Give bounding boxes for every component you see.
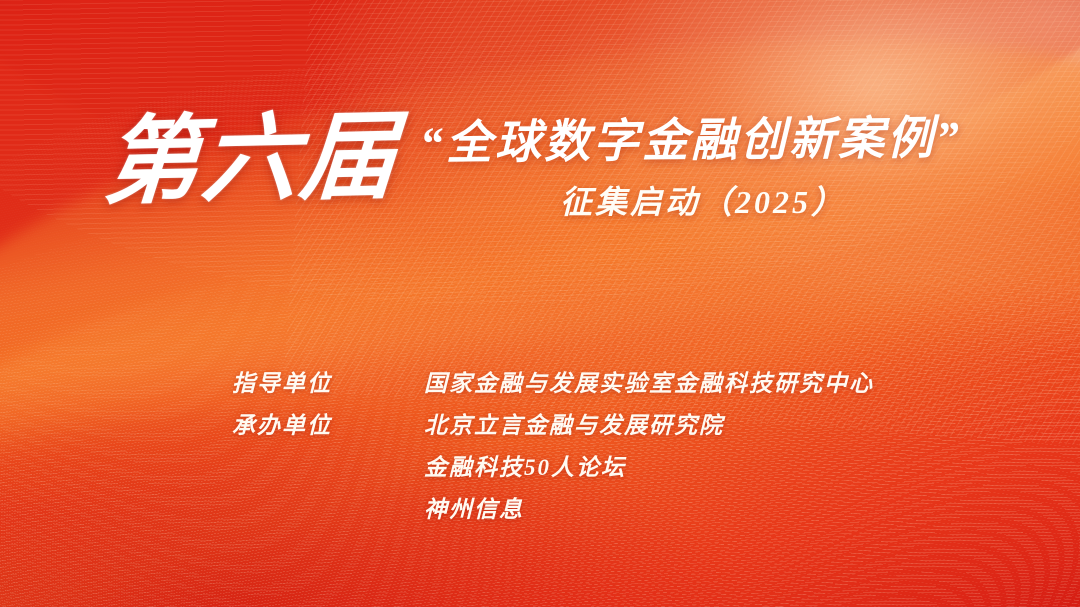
headline-group: 第六届: [104, 112, 398, 208]
credit-value-column: 国家金融与发展实验室金融科技研究中心 北京立言金融与发展研究院 金融科技50人论…: [424, 360, 874, 528]
edition-ordinal: 第六届: [101, 109, 402, 211]
credit-label: [232, 444, 424, 486]
credit-label: [232, 486, 424, 528]
credit-label: 指导单位: [232, 360, 424, 402]
credit-value: 北京立言金融与发展研究院: [424, 402, 874, 444]
banner-content: 第六届 “全球数字金融创新案例” 征集启动（2025） 指导单位 承办单位 国家…: [0, 0, 1080, 607]
program-title: “全球数字金融创新案例”: [420, 115, 962, 167]
credit-value: 金融科技50人论坛: [424, 444, 874, 486]
credit-value: 神州信息: [424, 486, 874, 528]
organizer-credits: 指导单位 承办单位 国家金融与发展实验室金融科技研究中心 北京立言金融与发展研究…: [232, 360, 874, 528]
credit-label-column: 指导单位 承办单位: [232, 360, 424, 528]
promo-banner: 第六届 “全球数字金融创新案例” 征集启动（2025） 指导单位 承办单位 国家…: [0, 0, 1080, 607]
credit-value: 国家金融与发展实验室金融科技研究中心: [424, 360, 874, 402]
launch-subtitle: 征集启动（2025）: [560, 186, 846, 218]
credit-label: 承办单位: [232, 402, 424, 444]
